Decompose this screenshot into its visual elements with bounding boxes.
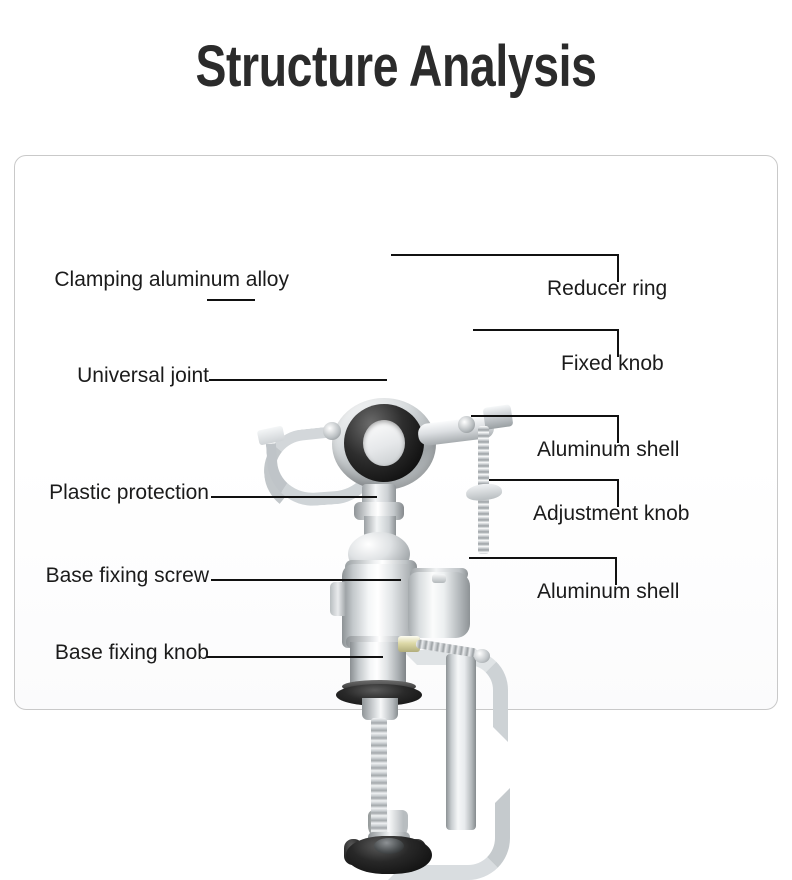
callout-label-base-fixing-knob: Base fixing knob <box>23 641 209 665</box>
page-title: Structure Analysis <box>79 36 713 98</box>
callout-label-adjustment-knob: Adjustment knob <box>533 502 769 526</box>
base-fixing-screw-shape <box>371 718 387 840</box>
leader-line-universal-joint <box>209 379 387 381</box>
callout-label-fixed-knob: Fixed knob <box>561 352 781 376</box>
product-illustration <box>250 336 580 856</box>
leader-line-base-fixing-screw <box>211 579 401 581</box>
adjustment-bolt-tip-shape <box>474 649 490 663</box>
leader-line-aluminum-shell-1-horizontal <box>471 415 619 417</box>
callout-label-clamping-aluminum-alloy: Clamping aluminum alloy <box>23 268 289 292</box>
leader-line-clamping-aluminum-alloy <box>207 299 255 301</box>
leader-line-aluminum-shell-2-horizontal <box>469 557 617 559</box>
fixed-knob-wing-shape <box>465 482 502 502</box>
callout-label-reducer-ring: Reducer ring <box>547 277 767 301</box>
leader-line-reducer-ring-horizontal <box>391 254 619 256</box>
base-knob-center-shape <box>374 838 404 854</box>
leader-line-fixed-knob-horizontal <box>473 329 619 331</box>
collar-bore-shape <box>363 420 405 466</box>
aluminum-shell-tab-shape <box>330 582 346 616</box>
leader-line-adjustment-knob-horizontal <box>489 479 619 481</box>
leader-line-base-fixing-knob <box>207 656 383 658</box>
callout-label-aluminum-shell-2: Aluminum shell <box>537 580 767 604</box>
collar-bolt-right-shape <box>458 416 475 433</box>
callout-label-universal-joint: Universal joint <box>57 364 209 388</box>
callout-label-aluminum-shell-1: Aluminum shell <box>537 438 767 462</box>
callout-label-base-fixing-screw: Base fixing screw <box>21 564 209 588</box>
leader-line-plastic-protection <box>211 496 377 498</box>
collar-bolt-left-shape <box>323 422 341 440</box>
callout-label-plastic-protection: Plastic protection <box>27 481 209 505</box>
diagram-panel: Clamping aluminum alloy Universal joint … <box>14 155 778 710</box>
base-screw-boss-shape <box>362 698 398 720</box>
adjustment-knob-cap-shape <box>432 574 446 583</box>
